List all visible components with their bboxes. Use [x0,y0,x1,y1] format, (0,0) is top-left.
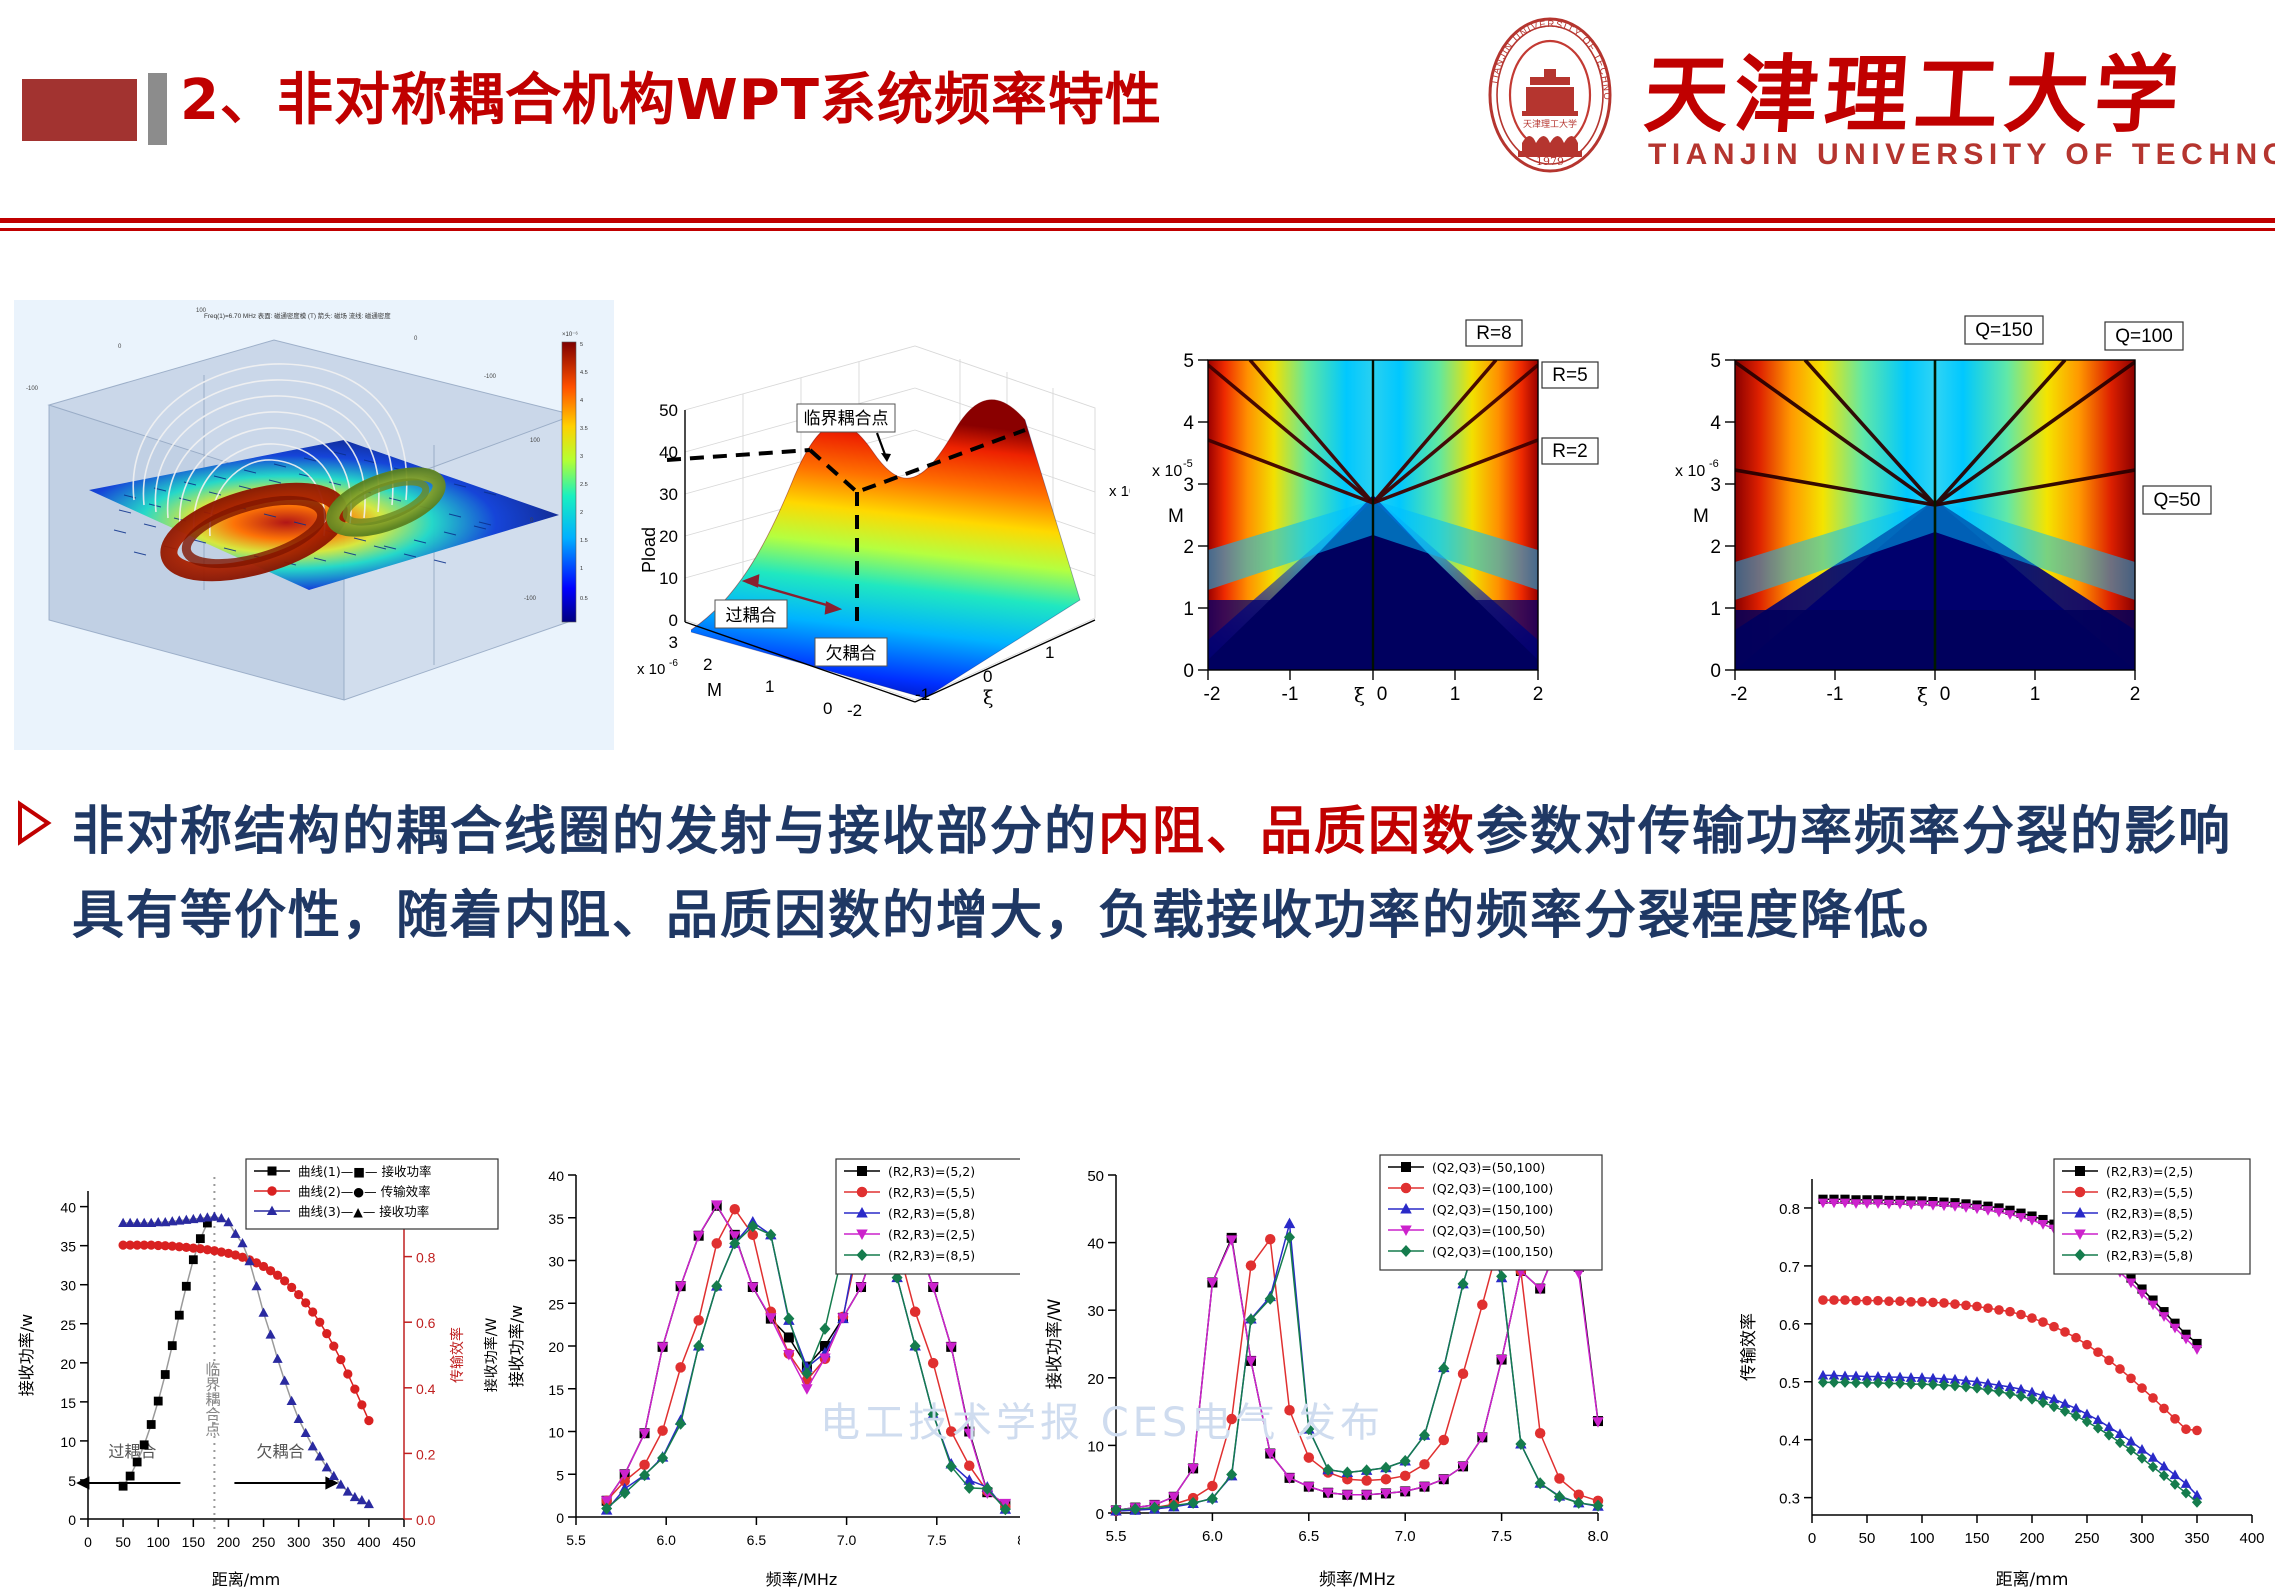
svg-text:400: 400 [357,1534,381,1550]
svg-text:5.5: 5.5 [1106,1528,1127,1545]
svg-text:35: 35 [548,1211,564,1227]
svg-text:50: 50 [659,401,678,420]
slide-header: 2、非对称耦合机构WPT系统频率特性 天津理工大学 [0,0,2275,230]
svg-text:0: 0 [556,1510,564,1526]
svg-text:20: 20 [659,527,678,546]
svg-text:过耦合: 过耦合 [108,1442,156,1461]
svg-text:40: 40 [60,1200,76,1216]
svg-text:20: 20 [60,1356,76,1372]
svg-text:欠耦合: 欠耦合 [256,1442,304,1461]
svg-text:2: 2 [1533,684,1544,705]
chart-efficiency-vs-distance-R: 0.30.40.50.60.70.80501001502002503003504… [1740,1145,2270,1591]
axis-label-xi: ξ [1354,683,1365,707]
svg-text:(R2,R3)=(8,5): (R2,R3)=(8,5) [2106,1206,2193,1221]
svg-text:2: 2 [580,510,583,516]
svg-text:×10⁻⁶: ×10⁻⁶ [562,331,578,338]
header-divider-thin [0,228,2275,231]
svg-text:1: 1 [1045,643,1054,662]
chart-power-vs-frequency-Q: 010203040505.56.06.57.07.58.0频率/MHz接收功率/… [1020,1145,1620,1591]
svg-text:R=8: R=8 [1476,323,1511,344]
svg-text:200: 200 [217,1534,241,1550]
svg-text:25: 25 [60,1317,76,1333]
svg-text:接收功率/W: 接收功率/W [483,1318,500,1393]
svg-text:0: 0 [1808,1530,1816,1547]
svg-text:1: 1 [1710,599,1721,620]
svg-text:临界耦合点: 临界耦合点 [804,409,889,429]
header-divider-thick [0,218,2275,223]
svg-text:20: 20 [548,1339,564,1355]
svg-text:0: 0 [84,1534,92,1550]
svg-text:4: 4 [1710,413,1721,434]
svg-text:x 10: x 10 [1152,463,1182,480]
svg-text:10: 10 [60,1434,76,1450]
svg-text:欠耦合: 欠耦合 [826,644,877,664]
svg-text:3: 3 [669,633,678,652]
svg-text:250: 250 [2074,1530,2099,1547]
label-Q50: Q=50 [2143,486,2211,514]
axis-label-M: M [1168,506,1184,527]
svg-text:3: 3 [1710,475,1721,496]
svg-text:曲线(2)—●— 传输效率: 曲线(2)—●— 传输效率 [298,1184,431,1199]
watermark: 电工技术学报 CES电气 发布 [820,1390,1384,1448]
svg-text:2: 2 [1710,537,1721,558]
svg-text:25: 25 [548,1296,564,1312]
svg-text:4: 4 [1183,413,1194,434]
svg-text:(Q2,Q3)=(100,150): (Q2,Q3)=(100,150) [1432,1244,1553,1259]
svg-text:-2: -2 [1731,684,1748,705]
svg-text:曲线(3)—▲— 接收功率: 曲线(3)—▲— 接收功率 [298,1204,429,1219]
svg-text:x 10: x 10 [1109,483,1130,500]
svg-text:350: 350 [2184,1530,2209,1547]
logo-chinese-name: 天津理工大学 [1641,28,2189,149]
svg-text:35: 35 [60,1239,76,1255]
bottom-chart-row: 0510152025303540050100150200250300350400… [0,1145,2275,1591]
svg-text:10: 10 [659,569,678,588]
annotation-under-coupling: 欠耦合 [815,638,887,666]
label-Q100: Q=100 [2105,322,2183,350]
svg-text:(Q2,Q3)=(50,100): (Q2,Q3)=(50,100) [1432,1160,1545,1175]
svg-text:(R2,R3)=(5,8): (R2,R3)=(5,8) [2106,1248,2193,1263]
svg-text:1.5: 1.5 [580,538,588,544]
svg-text:20: 20 [1087,1371,1104,1388]
svg-text:300: 300 [2129,1530,2154,1547]
label-Q150: Q=150 [1965,316,2043,344]
svg-text:频率/MHz: 频率/MHz [1319,1570,1395,1590]
svg-text:-100: -100 [26,386,39,392]
svg-text:1979: 1979 [1536,155,1564,168]
svg-text:(Q2,Q3)=(100,100): (Q2,Q3)=(100,100) [1432,1181,1553,1196]
svg-text:传输效率: 传输效率 [449,1327,466,1383]
svg-text:100: 100 [1909,1530,1934,1547]
svg-text:6.0: 6.0 [656,1532,676,1548]
svg-text:8.0: 8.0 [1588,1528,1609,1545]
svg-text:50: 50 [1087,1168,1104,1185]
svg-text:450: 450 [392,1534,416,1550]
svg-text:7.5: 7.5 [927,1532,947,1548]
svg-text:-1: -1 [1282,684,1299,705]
svg-text:接收功率/w: 接收功率/w [507,1305,526,1387]
svg-text:临界耦合点: 临界耦合点 [203,1362,221,1437]
svg-text:0.8: 0.8 [1779,1201,1800,1218]
svg-text:3.5: 3.5 [580,426,588,432]
svg-text:2: 2 [1183,537,1194,558]
svg-text:0.4: 0.4 [416,1381,436,1397]
svg-text:Q=100: Q=100 [2115,326,2173,347]
svg-text:传输效率: 传输效率 [1740,1313,1759,1381]
svg-text:(R2,R3)=(5,5): (R2,R3)=(5,5) [2106,1185,2193,1200]
svg-text:7.0: 7.0 [1395,1528,1416,1545]
svg-text:400: 400 [2239,1530,2264,1547]
svg-text:30: 30 [659,485,678,504]
para-part-1: 非对称结构的耦合线圈的发射与接收部分的 [72,802,1098,862]
figure-3d-magnetic-field: Freq(1)=6.70 MHz 表面: 磁通密度模 (T) 箭头: 磁场 流线… [14,300,614,750]
bullet-arrow-icon [14,800,54,846]
svg-text:6.0: 6.0 [1202,1528,1223,1545]
svg-text:0.8: 0.8 [416,1250,436,1266]
figure-pload-surface: 临界耦合点 过耦合 欠耦合 504030 20100 3 [625,300,1130,750]
svg-text:x 10: x 10 [637,661,665,678]
svg-text:5: 5 [1183,351,1194,372]
figure-R-contour: 543 210 -2-10 12 ξ M x 10 -5 R=8 R=5 R=2 [1150,300,1615,750]
svg-text:x 10: x 10 [1675,463,1705,480]
university-logo: 天津理工大学 TIANJIN UNIVERSITY OF TECHNOLOGY … [1470,10,2270,220]
svg-text:350: 350 [322,1534,346,1550]
svg-text:-1: -1 [1827,684,1844,705]
svg-text:5: 5 [1710,351,1721,372]
svg-text:2: 2 [703,655,712,674]
svg-text:(R2,R3)=(5,8): (R2,R3)=(5,8) [888,1206,975,1221]
page-title: 2、非对称耦合机构WPT系统频率特性 [180,55,1162,136]
svg-text:R=5: R=5 [1552,365,1587,386]
svg-text:50: 50 [115,1534,131,1550]
axis-label-pload: Pload [639,527,659,573]
svg-text:100: 100 [196,308,207,314]
svg-text:-100: -100 [484,374,497,380]
svg-text:Q=150: Q=150 [1975,320,2033,341]
svg-text:40: 40 [1087,1236,1104,1253]
svg-text:(R2,R3)=(5,5): (R2,R3)=(5,5) [888,1185,975,1200]
header-gray-bar [148,73,167,145]
svg-text:0.3: 0.3 [1779,1491,1800,1508]
svg-text:4: 4 [580,398,583,404]
svg-text:0.5: 0.5 [580,596,588,602]
header-red-square [22,79,137,141]
svg-text:-6: -6 [1709,458,1719,470]
svg-text:Q=50: Q=50 [2153,490,2200,511]
svg-text:-6: -6 [669,658,678,669]
svg-text:30: 30 [60,1278,76,1294]
bullet-paragraph: 非对称结构的耦合线圈的发射与接收部分的内阻、品质因数参数对传输功率频率分裂的影响… [72,790,2262,958]
svg-text:300: 300 [287,1534,311,1550]
svg-text:200: 200 [2019,1530,2044,1547]
svg-text:15: 15 [548,1382,564,1398]
chart-power-efficiency-vs-distance: 0510152025303540050100150200250300350400… [10,1145,530,1591]
svg-text:0.6: 0.6 [416,1315,436,1331]
annotation-over-coupling: 过耦合 [715,600,787,628]
label-R2: R=2 [1542,438,1598,464]
svg-text:0: 0 [1096,1506,1104,1523]
svg-text:曲线(1)—■— 接收功率: 曲线(1)—■— 接收功率 [298,1164,432,1179]
chart-power-vs-frequency-R: 05101520253035405.56.06.57.07.58.0频率/MHz… [500,1145,1045,1591]
seal-icon: 天津理工大学 TIANJIN UNIVERSITY OF TECHNOLOGY … [1470,15,1630,175]
svg-text:6.5: 6.5 [747,1532,767,1548]
svg-text:0: 0 [1377,684,1388,705]
svg-text:10: 10 [548,1425,564,1441]
svg-text:0: 0 [983,667,992,686]
svg-text:R=2: R=2 [1552,441,1587,462]
para-highlight: 内阻、品质因数 [1098,802,1476,862]
svg-text:(Q2,Q3)=(150,100): (Q2,Q3)=(150,100) [1432,1202,1553,1217]
svg-text:40: 40 [659,443,678,462]
svg-text:0: 0 [1940,684,1951,705]
svg-text:0.5: 0.5 [1779,1375,1800,1392]
axis-label-M: M [707,680,722,700]
svg-text:6.5: 6.5 [1298,1528,1319,1545]
logo-english-name: TIANJIN UNIVERSITY OF TECHNOLOGY [1648,138,2275,172]
top-figure-row: Freq(1)=6.70 MHz 表面: 磁通密度模 (T) 箭头: 磁场 流线… [0,300,2275,750]
svg-text:50: 50 [1859,1530,1876,1547]
colorbar [562,342,576,622]
svg-text:0.7: 0.7 [1779,1259,1800,1276]
svg-text:距离/mm: 距离/mm [1996,1570,2069,1590]
figure-Q-contour: 543 210 -2-10 12 ξ M x 10 -6 Q=150 Q=100… [1665,300,2265,750]
svg-text:-2: -2 [847,701,862,720]
bullet-block: 非对称结构的耦合线圈的发射与接收部分的内阻、品质因数参数对传输功率频率分裂的影响… [0,790,2275,1120]
svg-text:5: 5 [556,1467,564,1483]
svg-text:40: 40 [548,1168,564,1184]
svg-text:1: 1 [1450,684,1461,705]
svg-text:-5: -5 [1183,458,1193,470]
svg-text:0.4: 0.4 [1779,1433,1800,1450]
axis-label-xi: ξ [983,687,993,709]
svg-text:-2: -2 [1204,684,1221,705]
svg-text:5: 5 [68,1473,76,1489]
svg-text:100: 100 [530,438,541,444]
svg-text:(R2,R3)=(5,2): (R2,R3)=(5,2) [888,1164,975,1179]
svg-text:0: 0 [1183,661,1194,682]
svg-text:1: 1 [2030,684,2041,705]
svg-text:距离/mm: 距离/mm [212,1570,281,1589]
svg-text:接收功率/w: 接收功率/w [17,1314,36,1396]
svg-text:7.0: 7.0 [837,1532,857,1548]
label-R5: R=5 [1542,362,1598,388]
svg-text:5.5: 5.5 [566,1532,586,1548]
svg-text:3: 3 [1183,475,1194,496]
svg-text:(R2,R3)=(5,2): (R2,R3)=(5,2) [2106,1227,2193,1242]
axis-label-M: M [1693,506,1709,527]
svg-text:150: 150 [182,1534,206,1550]
svg-text:5: 5 [580,342,583,348]
svg-text:0: 0 [823,699,832,718]
svg-text:2.5: 2.5 [580,482,588,488]
svg-text:3: 3 [580,454,583,460]
svg-text:150: 150 [1964,1530,1989,1547]
svg-text:4.5: 4.5 [580,370,588,376]
svg-text:(R2,R3)=(2,5): (R2,R3)=(2,5) [888,1227,975,1242]
svg-text:7.5: 7.5 [1491,1528,1512,1545]
svg-text:0: 0 [1710,661,1721,682]
svg-text:30: 30 [548,1254,564,1270]
svg-text:250: 250 [252,1534,276,1550]
svg-text:15: 15 [60,1395,76,1411]
svg-text:0: 0 [68,1512,76,1528]
svg-text:30: 30 [1087,1303,1104,1320]
svg-text:天津理工大学: 天津理工大学 [1523,118,1577,130]
svg-text:(R2,R3)=(2,5): (R2,R3)=(2,5) [2106,1164,2193,1179]
svg-text:(R2,R3)=(8,5): (R2,R3)=(8,5) [888,1248,975,1263]
svg-text:0.0: 0.0 [416,1512,436,1528]
svg-text:1: 1 [1183,599,1194,620]
svg-text:1: 1 [765,677,774,696]
svg-text:-100: -100 [524,596,537,602]
svg-text:接收功率/W: 接收功率/W [1045,1299,1065,1390]
svg-text:0.2: 0.2 [416,1446,436,1462]
svg-text:100: 100 [147,1534,171,1550]
svg-text:2: 2 [2130,684,2141,705]
figure1-caption: Freq(1)=6.70 MHz 表面: 磁通密度模 (T) 箭头: 磁场 流线… [204,311,391,320]
svg-text:0: 0 [669,611,678,630]
svg-text:过耦合: 过耦合 [726,606,777,626]
svg-text:-1: -1 [915,685,930,704]
svg-text:频率/MHz: 频率/MHz [766,1570,838,1589]
axis-label-xi: ξ [1917,683,1928,707]
svg-text:1: 1 [580,566,583,572]
svg-text:(Q2,Q3)=(100,50): (Q2,Q3)=(100,50) [1432,1223,1545,1238]
label-R8: R=8 [1466,320,1522,346]
svg-text:0.6: 0.6 [1779,1317,1800,1334]
